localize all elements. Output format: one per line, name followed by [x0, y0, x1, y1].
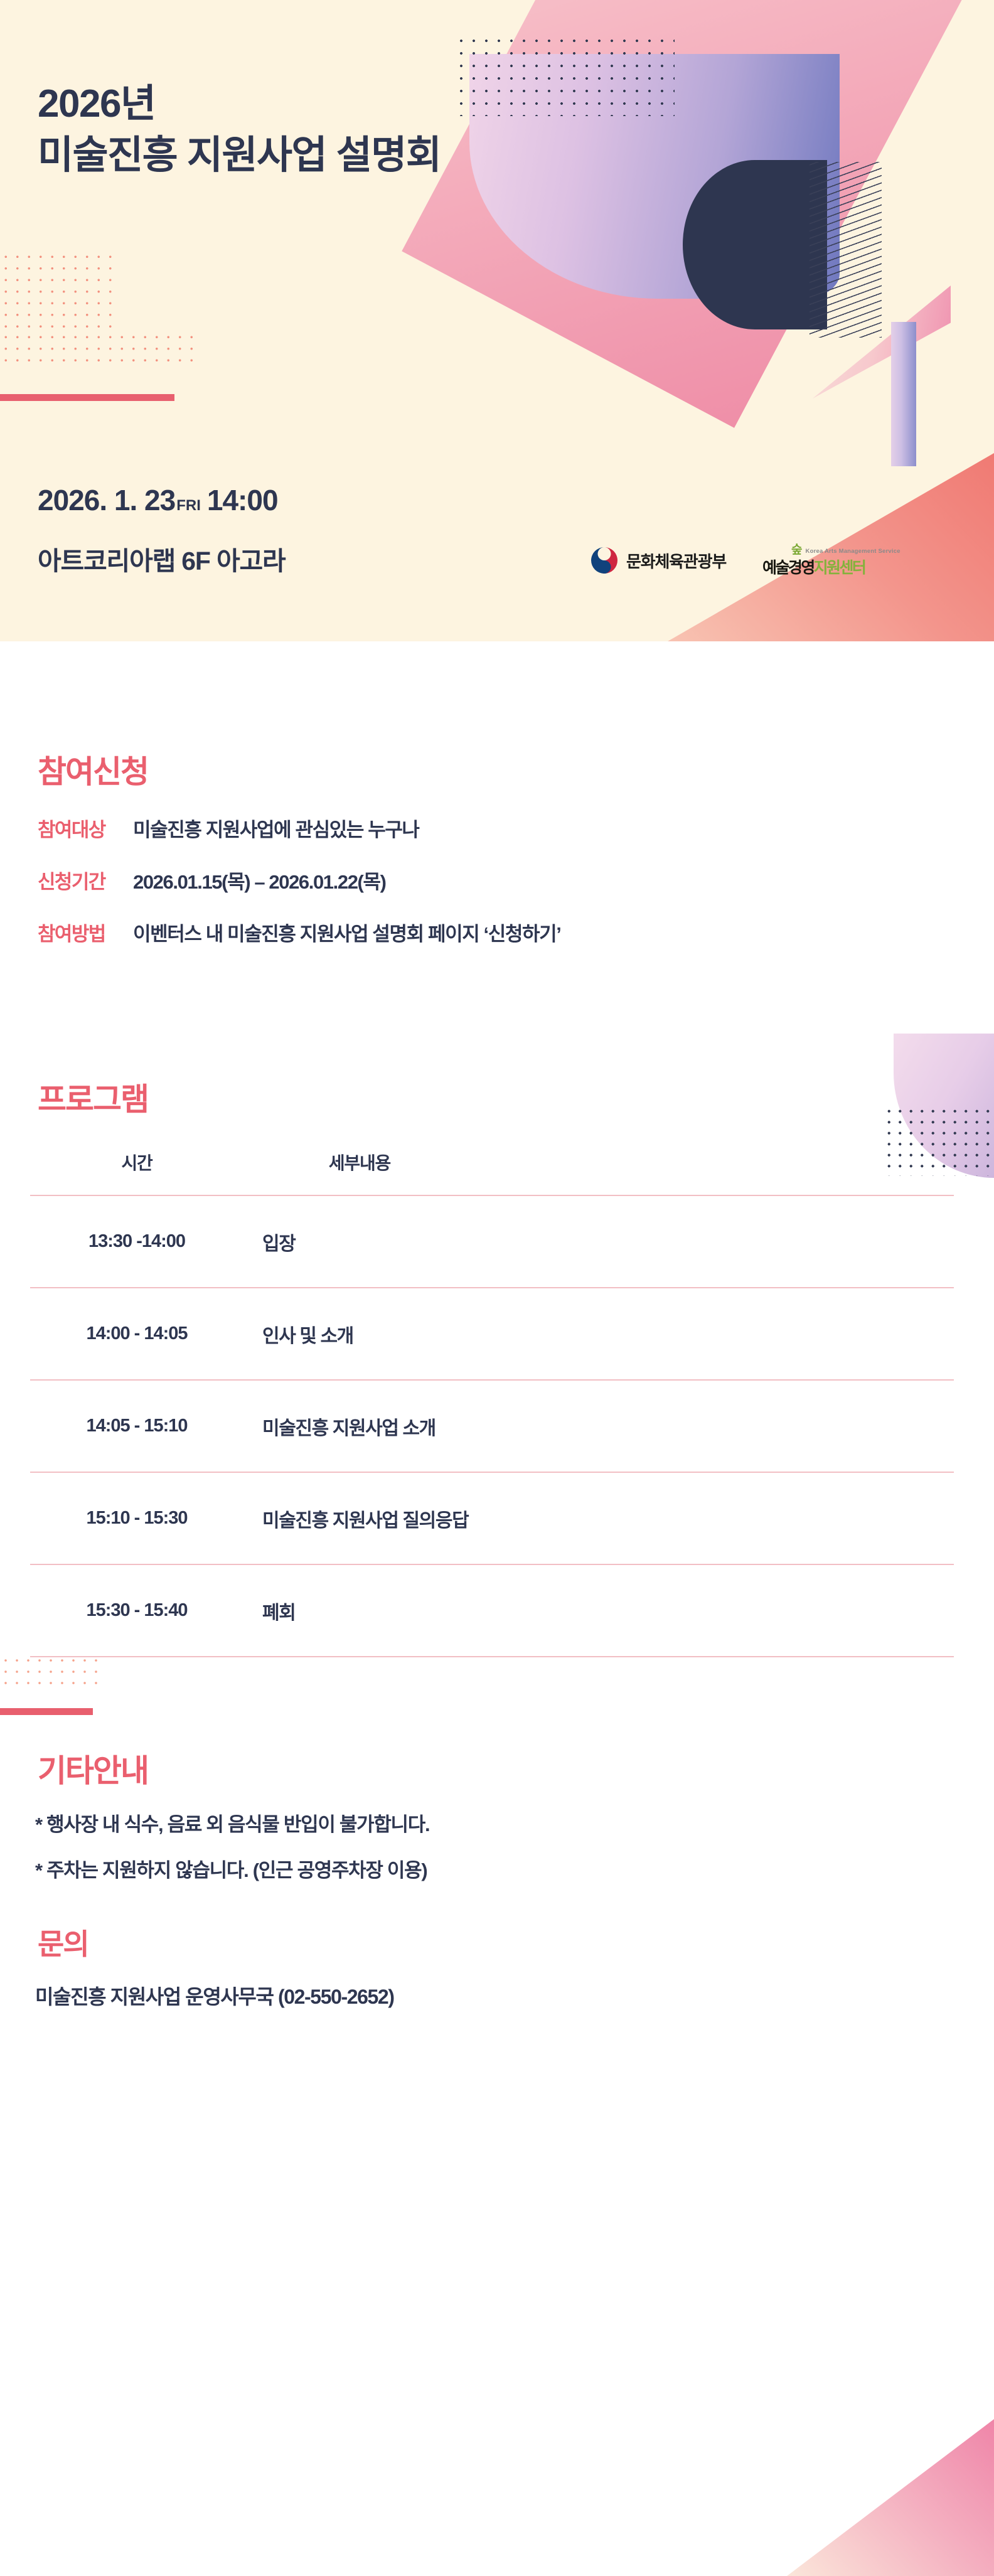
cell-detail: 미술진흥 지원사업 소개: [243, 1413, 436, 1440]
page-title-line-2: 미술진흥 지원사업 설명회: [38, 130, 441, 181]
list-item: 참여방법 이벤터스 내 미술진흥 지원사업 설명회 페이지 ‘신청하기’: [38, 918, 954, 946]
application-field-label: 신청기간: [38, 866, 133, 894]
logo-kams-top-row: 숲 Korea Arts Management Service: [791, 544, 900, 556]
application-field-value: 미술진흥 지원사업에 관심있는 누구나: [133, 814, 419, 842]
logo-ministry-culture-sports-tourism: 문화체육관광부: [590, 546, 726, 575]
taegeuk-icon: [590, 546, 619, 575]
list-item: 참여대상 미술진흥 지원사업에 관심있는 누구나: [38, 814, 954, 842]
event-day-of-week: FRI: [176, 497, 201, 515]
list-item: * 행사장 내 식수, 음료 외 음식물 반입이 불가합니다.: [35, 1809, 914, 1837]
cell-time: 15:30 - 15:40: [30, 1600, 243, 1621]
hero-hatched-lines-shape: [810, 162, 882, 338]
cell-detail: 입장: [243, 1228, 295, 1256]
cell-detail: 미술진흥 지원사업 질의응답: [243, 1505, 468, 1532]
logo-kams-korean-part2: 지원센터: [814, 555, 865, 578]
hero-red-rule: [0, 394, 174, 401]
table-row: 13:30 -14:00 입장: [30, 1195, 954, 1287]
program-table: 시간 세부내용 13:30 -14:00 입장 14:00 - 14:05 인사…: [30, 1150, 954, 1657]
application-field-value: 이벤터스 내 미술진흥 지원사업 설명회 페이지 ‘신청하기’: [133, 918, 560, 946]
list-item: * 주차는 지원하지 않습니다. (인근 공영주차장 이용): [35, 1854, 914, 1883]
section-title-contact: 문의: [38, 1921, 88, 1963]
section-title-application: 참여신청: [38, 747, 148, 792]
cell-time: 14:05 - 15:10: [30, 1416, 243, 1436]
event-venue: 아트코리아랩 6F 아고라: [38, 540, 286, 577]
logo-korea-arts-management-service: 숲 Korea Arts Management Service 예술경영 지원센…: [762, 543, 888, 578]
application-field-value: 2026.01.15(목) – 2026.01.22(목): [133, 866, 386, 894]
hero-coral-dot-grid-left: [0, 251, 116, 336]
cell-detail: 인사 및 소개: [243, 1320, 353, 1348]
logo-ministry-label: 문화체육관광부: [626, 549, 726, 572]
cell-time: 13:30 -14:00: [30, 1231, 243, 1252]
section-title-program: 프로그램: [38, 1074, 148, 1120]
hero-navy-halfdisc-shape: [683, 160, 827, 329]
notes-coral-dot-grid: [0, 1655, 97, 1690]
application-info-list: 참여대상 미술진흥 지원사업에 관심있는 누구나 신청기간 2026.01.15…: [38, 814, 954, 970]
forest-mark-icon: 숲: [791, 544, 801, 556]
table-row: 15:10 - 15:30 미술진흥 지원사업 질의응답: [30, 1472, 954, 1564]
sponsor-logos: 문화체육관광부 숲 Korea Arts Management Service …: [590, 541, 888, 580]
notes-list: * 행사장 내 식수, 음료 외 음식물 반입이 불가합니다. * 주차는 지원…: [35, 1809, 914, 1900]
logo-kams-korean-part1: 예술경영: [762, 555, 814, 578]
notes-red-rule: [0, 1708, 93, 1715]
table-row: 14:00 - 14:05 인사 및 소개: [30, 1287, 954, 1379]
page-title-line-1: 2026년: [38, 82, 155, 126]
cell-time: 14:00 - 14:05: [30, 1323, 243, 1344]
contact-details: 미술진흥 지원사업 운영사무국 (02-550-2652): [35, 1981, 394, 2010]
application-field-label: 참여대상: [38, 814, 133, 842]
cell-detail: 폐회: [243, 1597, 295, 1625]
hero-coral-dot-grid-left-lower: [0, 331, 195, 363]
table-row: 14:05 - 15:10 미술진흥 지원사업 소개: [30, 1379, 954, 1472]
program-table-header: 시간 세부내용: [30, 1150, 954, 1195]
poster-root: 2026년 미술진흥 지원사업 설명회 2026. 1. 23 FRI 14:0…: [0, 0, 994, 2576]
event-datetime: 2026. 1. 23 FRI 14:00: [38, 483, 278, 517]
page-title: 2026년 미술진흥 지원사업 설명회: [38, 78, 441, 181]
table-row: 15:30 - 15:40 폐회: [30, 1564, 954, 1657]
logo-kams-korean-label: 예술경영 지원센터: [762, 555, 865, 578]
hero-purple-vertical-bar-shape: [891, 322, 916, 466]
poster-body: 참여신청 참여대상 미술진흥 지원사업에 관심있는 누구나 신청기간 2026.…: [0, 641, 994, 2576]
list-item: 신청기간 2026.01.15(목) – 2026.01.22(목): [38, 866, 954, 894]
cell-time: 15:10 - 15:30: [30, 1508, 243, 1529]
section-title-notes: 기타안내: [38, 1746, 148, 1791]
footer-pink-triangle-shape: [787, 2419, 994, 2576]
event-time: 14:00: [207, 483, 278, 517]
event-date: 2026. 1. 23: [38, 483, 175, 517]
hero-banner: 2026년 미술진흥 지원사업 설명회 2026. 1. 23 FRI 14:0…: [0, 0, 994, 641]
column-header-time: 시간: [30, 1150, 243, 1175]
application-field-label: 참여방법: [38, 918, 133, 946]
column-header-detail: 세부내용: [243, 1150, 476, 1175]
hero-navy-dot-grid: [455, 35, 675, 116]
